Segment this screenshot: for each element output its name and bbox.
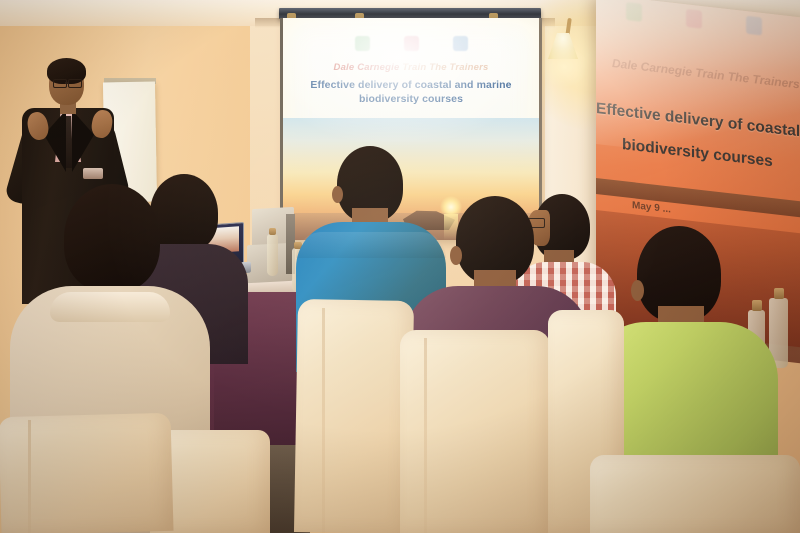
attendee-purple-shirt-ear	[450, 246, 462, 265]
chair-cover	[590, 455, 800, 533]
photo-scene: Dale Carnegie Train The Trainers Effecti…	[0, 0, 800, 533]
water-bottle-cap	[752, 300, 762, 311]
chair-cover-seam	[322, 308, 325, 533]
water-bottle-cap	[774, 288, 784, 299]
presenter-eyeglasses-right	[68, 79, 82, 88]
attendee-blue-shirt-shoulder	[296, 232, 446, 258]
attendee-green-shirt-ear	[631, 280, 644, 301]
water-bottle	[267, 234, 278, 276]
water-bottle-cap	[269, 228, 276, 235]
presenter-eyeglasses-bridge	[65, 82, 68, 84]
chair-cover	[294, 299, 414, 533]
chair-cover-seam	[28, 420, 31, 533]
banner-light-glare	[596, 0, 800, 168]
attendee-beige-shirt-head	[64, 184, 160, 292]
chair-cover	[0, 413, 174, 533]
attendee-blue-shirt-ear	[332, 186, 343, 203]
chair-cover-seam	[424, 338, 427, 533]
presenter-name-badge	[83, 168, 103, 179]
sconce-bulb-glow	[540, 46, 588, 88]
screen-light-hotspot	[283, 18, 539, 148]
attendee-dark-shirt-head	[150, 174, 218, 252]
attendee-beige-shirt-collar	[50, 292, 170, 322]
chair-cover	[400, 330, 550, 533]
